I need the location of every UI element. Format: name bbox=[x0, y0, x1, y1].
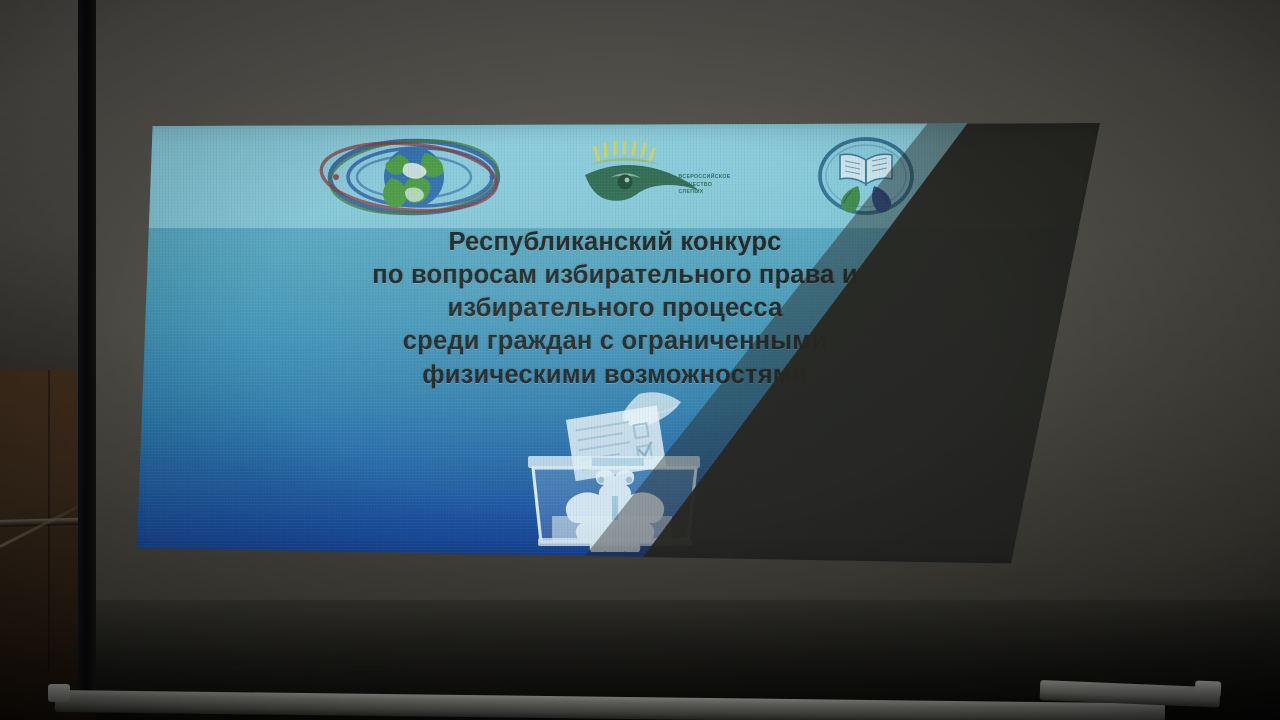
room-scene: ВСЕРОССИЙСКОЕ ОБЩЕСТВО СЛЕПЫХ bbox=[0, 0, 1280, 720]
title-line-2: по вопросам избирательного права и bbox=[120, 259, 1110, 292]
projected-slide: ВСЕРОССИЙСКОЕ ОБЩЕСТВО СЛЕПЫХ bbox=[120, 118, 1110, 568]
vos-logo-caption: ВСЕРОССИЙСКОЕ ОБЩЕСТВО СЛЕПЫХ bbox=[679, 174, 731, 197]
globe-orbits-logo bbox=[313, 136, 523, 218]
title-line-4: среди граждан с ограниченными bbox=[120, 325, 1110, 358]
slide-title: Республиканский конкурс по вопросам изби… bbox=[120, 226, 1110, 392]
screen-rail-end-cap-right bbox=[1195, 680, 1222, 697]
slide-background: ВСЕРОССИЙСКОЕ ОБЩЕСТВО СЛЕПЫХ bbox=[120, 118, 1110, 568]
all-russian-society-of-the-blind-logo: ВСЕРОССИЙСКОЕ ОБЩЕСТВО СЛЕПЫХ bbox=[581, 141, 756, 213]
logo-row: ВСЕРОССИЙСКОЕ ОБЩЕСТВО СЛЕПЫХ bbox=[120, 136, 1110, 218]
title-line-3: избирательного процесса bbox=[120, 292, 1110, 325]
screen-frame-edge bbox=[78, 0, 96, 700]
screen-rail-end-cap-left bbox=[48, 684, 70, 702]
wall-left bbox=[0, 0, 80, 420]
title-line-1: Республиканский конкурс bbox=[120, 226, 1110, 259]
open-book-and-hands-logo bbox=[814, 136, 918, 218]
ballot-box-with-coat-of-arms bbox=[500, 384, 730, 552]
